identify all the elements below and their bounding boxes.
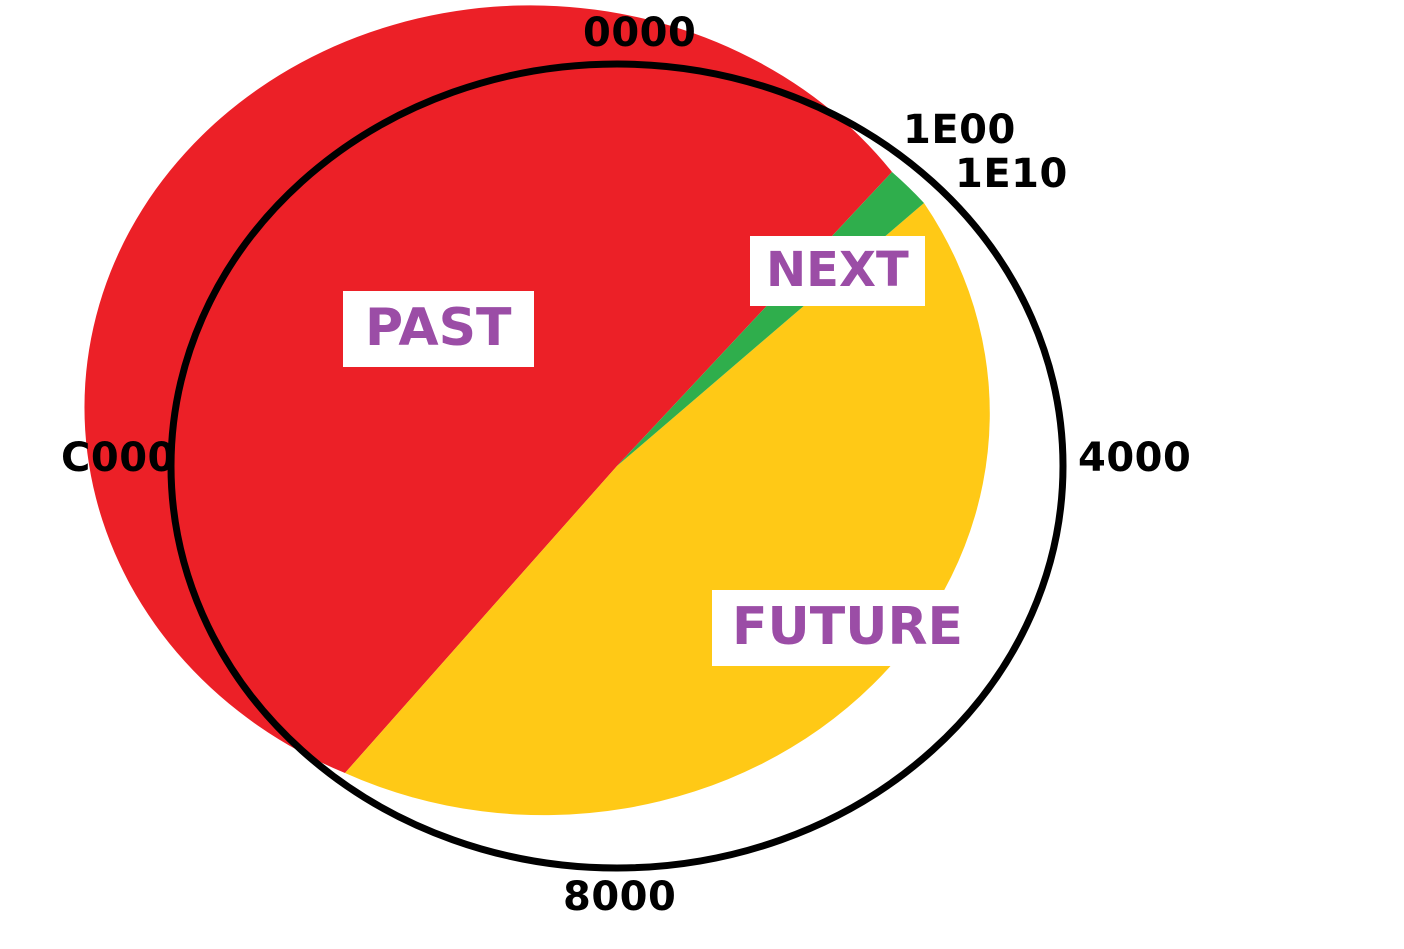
sequence-wheel-diagram: 0000 1E00 1E10 4000 8000 C000 PAST NEXT …: [0, 0, 1404, 949]
ring-tick-label-1e10: 1E10: [955, 154, 1068, 194]
ring-tick-label-4000: 4000: [1078, 438, 1191, 478]
region-label-future: FUTURE: [712, 590, 983, 666]
ring-tick-label-c000: C000: [61, 438, 176, 478]
wheel-canvas: [0, 0, 1404, 949]
region-label-past: PAST: [343, 291, 534, 367]
ring-tick-label-8000: 8000: [563, 877, 676, 917]
ring-tick-label-0000: 0000: [583, 13, 696, 53]
ring-tick-label-1e00: 1E00: [903, 110, 1016, 150]
region-label-next: NEXT: [750, 236, 925, 306]
